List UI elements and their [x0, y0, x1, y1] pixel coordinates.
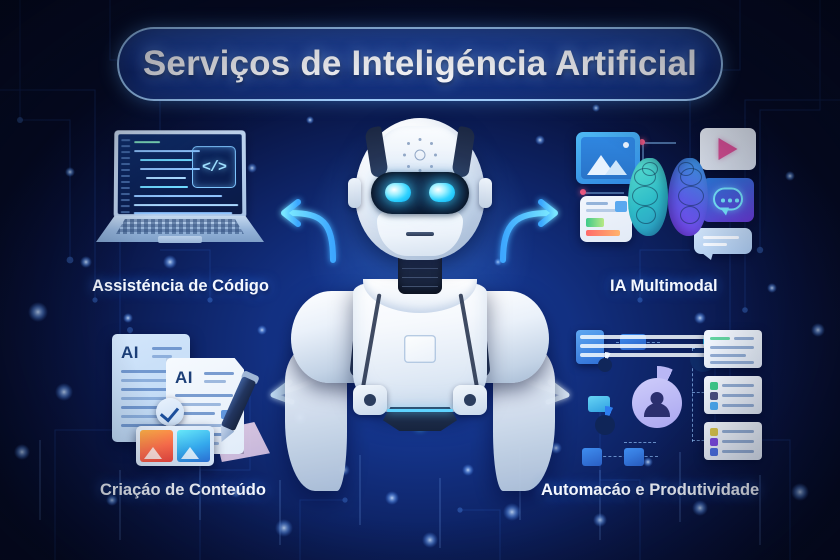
ai-robot-icon[interactable]	[295, 118, 545, 493]
robot-mouth	[406, 232, 434, 236]
robot-visor	[371, 172, 469, 214]
service-label-multimodal-ai: IA Multimodal	[610, 277, 718, 296]
robot-face-plate	[377, 210, 463, 256]
robot-joint-right	[453, 385, 487, 415]
service-label-content-creation: Criaçáo de Conteúdo	[100, 481, 266, 500]
robot-waist-glow	[387, 409, 453, 412]
robot-eye-left	[385, 183, 411, 202]
ai-services-infographic: Serviços de Inteligéncia Artificial </>	[0, 0, 840, 560]
robot-eye-right	[429, 183, 455, 202]
service-label-code-assistance: Assisténcia de Código	[92, 277, 269, 296]
robot-chest-panel	[404, 335, 436, 363]
robot-ear-left	[348, 178, 361, 208]
robot-head	[355, 118, 485, 260]
robot-body	[295, 283, 545, 493]
service-label-automation: Automacáo e Produtividade	[541, 481, 759, 500]
robot-joint-left	[353, 385, 387, 415]
robot-sensor-ring	[403, 138, 437, 172]
robot-ear-right	[479, 178, 492, 208]
